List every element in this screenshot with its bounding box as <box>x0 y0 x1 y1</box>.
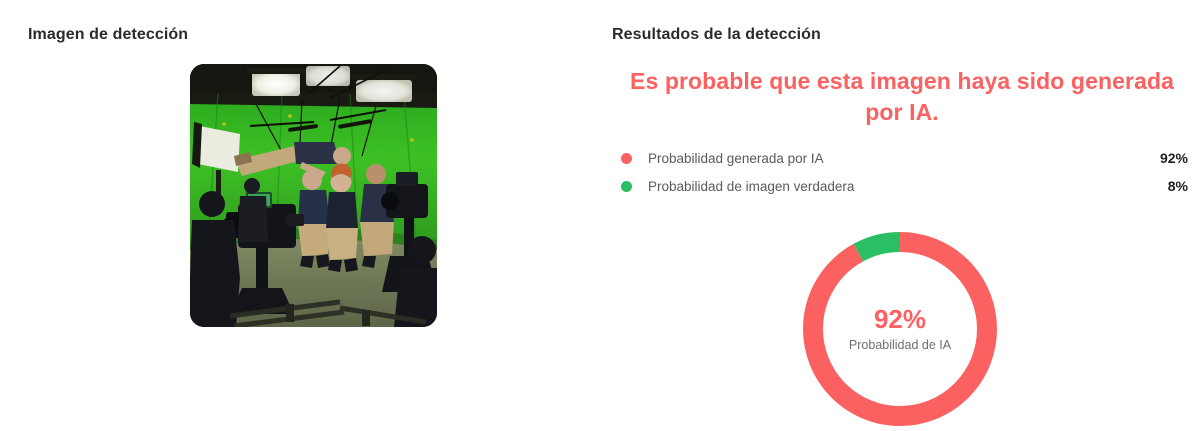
legend-item-ai-probability: Probabilidad generada por IA 92% <box>616 144 1188 172</box>
legend-item-value: 92% <box>1160 150 1188 166</box>
film-set-photo-illustration <box>190 64 437 327</box>
probability-legend: Probabilidad generada por IA 92% Probabi… <box>616 144 1188 200</box>
legend-dot-icon <box>621 153 632 164</box>
donut-chart-svg <box>803 232 997 426</box>
legend-item-real-probability: Probabilidad de imagen verdadera 8% <box>616 172 1188 200</box>
detection-results-panel: Resultados de la detección Es probable q… <box>600 0 1200 431</box>
legend-item-label: Probabilidad de imagen verdadera <box>648 179 854 194</box>
detection-image[interactable] <box>190 64 437 327</box>
detection-image-title: Imagen de detección <box>28 26 188 44</box>
donut-segment-ai[interactable] <box>813 242 987 416</box>
probability-donut-chart: 92% Probabilidad de IA <box>803 232 997 426</box>
legend-item-label: Probabilidad generada por IA <box>648 151 824 166</box>
legend-item-value: 8% <box>1168 178 1188 194</box>
detection-image-content <box>190 64 437 327</box>
verdict-message: Es probable que esta imagen haya sido ge… <box>616 66 1188 128</box>
detection-image-panel: Imagen de detección <box>0 0 600 431</box>
legend-dot-icon <box>621 181 632 192</box>
detection-results-title: Resultados de la detección <box>612 26 821 44</box>
